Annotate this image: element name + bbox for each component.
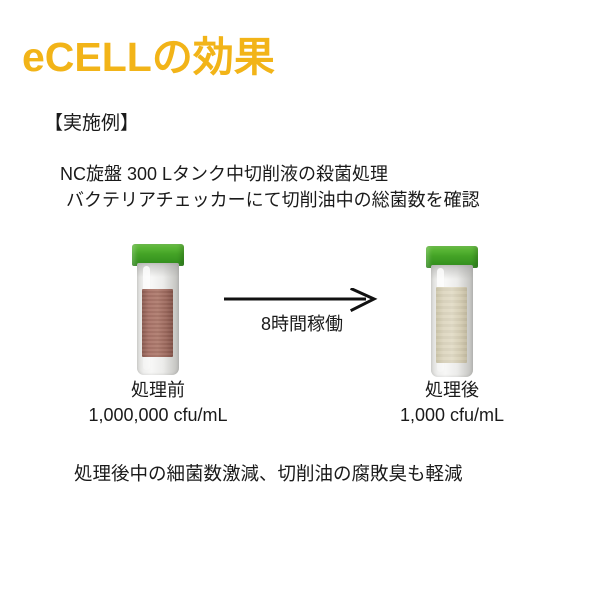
experiment-comparison: 8時間稼働 処理前 1,000,000 cfu/mL 処理後 1,000 cfu… — [0, 244, 600, 424]
caption-before-title: 処理前 — [131, 380, 185, 400]
caption-after: 処理後 1,000 cfu/mL — [322, 378, 582, 428]
caption-before: 処理前 1,000,000 cfu/mL — [28, 378, 288, 428]
arrow-right-icon — [222, 288, 382, 312]
bacteria-checker-strip-red — [142, 289, 173, 357]
description-line-1: NC旋盤 300 Lタンク中切削液の殺菌処理 — [60, 162, 480, 188]
vial-body-before — [130, 244, 186, 376]
process-arrow-group: 8時間稼働 — [222, 288, 382, 348]
caption-after-count: 1,000 cfu/mL — [322, 403, 582, 428]
caption-after-title: 処理後 — [425, 380, 479, 400]
vial-tube-after — [431, 265, 473, 377]
bacteria-checker-strip-cream — [436, 287, 467, 363]
page-title: eCELLの効果 — [22, 36, 275, 79]
slide-canvas: eCELLの効果 【実施例】 NC旋盤 300 Lタンク中切削液の殺菌処理 バク… — [0, 0, 600, 600]
arrow-label-duration: 8時間稼働 — [222, 310, 382, 336]
conclusion-text: 処理後中の細菌数激減、切削油の腐敗臭も軽減 — [74, 460, 463, 486]
caption-before-count: 1,000,000 cfu/mL — [28, 403, 288, 428]
vial-tube-before — [137, 263, 179, 375]
description-block: NC旋盤 300 Lタンク中切削液の殺菌処理 バクテリアチェッカーにて切削油中の… — [60, 162, 480, 213]
section-label-example: 【実施例】 — [44, 108, 139, 135]
vial-before — [130, 244, 186, 376]
vial-body-after — [424, 246, 480, 378]
vial-after — [424, 246, 480, 378]
description-line-2: バクテリアチェッカーにて切削油中の総菌数を確認 — [60, 188, 480, 214]
